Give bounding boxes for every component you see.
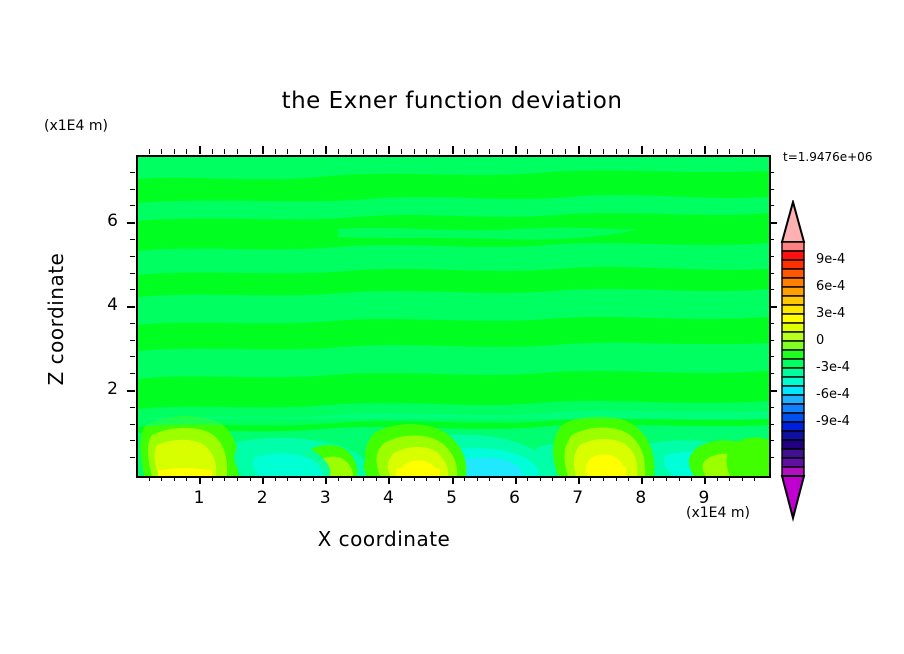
axis-tick: [351, 149, 352, 154]
axis-tick: [199, 476, 201, 484]
x-tick-label: 9: [689, 488, 719, 508]
axis-tick: [616, 149, 617, 154]
axis-tick: [376, 476, 377, 481]
axis-tick: [515, 146, 517, 154]
colorbar-band: [782, 323, 804, 332]
colorbar-band: [782, 467, 804, 476]
axis-tick: [130, 340, 135, 341]
colorbar-band: [782, 404, 804, 413]
colorbar-band: [782, 305, 804, 314]
axis-tick: [130, 239, 135, 240]
colorbar-band: [782, 368, 804, 377]
axis-tick: [130, 172, 135, 173]
axis-tick: [250, 476, 251, 481]
axis-tick: [527, 476, 528, 481]
x-tick-label: 1: [184, 488, 214, 508]
axis-tick: [237, 476, 238, 481]
axis-tick: [769, 440, 774, 441]
x-tick-label: 6: [500, 488, 530, 508]
axis-tick: [628, 476, 629, 481]
x-tick-label: 8: [626, 488, 656, 508]
axis-tick: [426, 476, 427, 481]
axis-tick: [489, 149, 490, 154]
colorbar-tick-label: 3e-4: [816, 306, 845, 321]
colorbar-band: [782, 278, 804, 287]
axis-tick: [477, 149, 478, 154]
axis-tick: [149, 476, 150, 481]
axis-tick: [742, 476, 743, 481]
axis-tick: [287, 149, 288, 154]
colorbar-band: [782, 260, 804, 269]
axis-tick: [250, 149, 251, 154]
axis-tick: [262, 146, 264, 154]
axis-tick: [590, 476, 591, 481]
axis-tick: [552, 476, 553, 481]
axis-tick: [679, 476, 680, 481]
colorbar-band: [782, 440, 804, 449]
axis-tick: [717, 149, 718, 154]
axis-tick: [489, 476, 490, 481]
axis-tick: [439, 149, 440, 154]
axis-tick: [262, 476, 264, 484]
axis-tick: [502, 476, 503, 481]
axis-tick: [351, 476, 352, 481]
colorbar-top-cap: [782, 202, 804, 242]
y-tick-label: 4: [88, 295, 118, 315]
axis-tick: [515, 476, 517, 484]
axis-tick: [769, 289, 774, 290]
axis-tick: [212, 476, 213, 481]
axis-tick: [704, 146, 706, 154]
axis-tick: [769, 273, 774, 274]
colorbar-band: [782, 431, 804, 440]
axis-tick: [603, 149, 604, 154]
axis-tick: [161, 476, 162, 481]
axis-tick: [653, 476, 654, 481]
axis-tick: [769, 373, 774, 374]
axis-tick: [540, 149, 541, 154]
axis-tick: [325, 146, 327, 154]
y-unit-label: (x1E4 m): [44, 118, 108, 134]
x-tick-label: 7: [563, 488, 593, 508]
axis-tick: [130, 457, 135, 458]
axis-tick: [130, 189, 135, 190]
colorbar-band: [782, 242, 804, 251]
axis-tick: [300, 476, 301, 481]
axis-tick: [414, 149, 415, 154]
axis-tick: [130, 289, 135, 290]
axis-tick: [127, 306, 135, 308]
axis-tick: [527, 149, 528, 154]
colorbar-band: [782, 458, 804, 467]
axis-tick: [666, 476, 667, 481]
colorbar-tick-label: -3e-4: [816, 360, 850, 375]
colorbar-band: [782, 287, 804, 296]
colorbar-band: [782, 386, 804, 395]
axis-tick: [742, 149, 743, 154]
axis-tick: [127, 390, 135, 392]
colorbar-bottom-cap: [782, 476, 804, 518]
axis-tick: [552, 149, 553, 154]
axis-tick: [224, 149, 225, 154]
axis-tick: [691, 149, 692, 154]
colorbar-band: [782, 422, 804, 431]
colorbar-tick-label: -6e-4: [816, 387, 850, 402]
axis-tick: [754, 149, 755, 154]
figure-canvas: the Exner function deviation (x1E4 m) (x…: [0, 0, 904, 654]
axis-tick: [130, 373, 135, 374]
axis-tick: [186, 149, 187, 154]
axis-tick: [237, 149, 238, 154]
axis-tick: [691, 476, 692, 481]
x-tick-label: 4: [373, 488, 403, 508]
axis-tick: [653, 149, 654, 154]
axis-tick: [186, 476, 187, 481]
colorbar-band: [782, 296, 804, 305]
colorbar-band: [782, 251, 804, 260]
axis-tick: [275, 476, 276, 481]
colorbar-band: [782, 359, 804, 368]
axis-tick: [174, 149, 175, 154]
axis-tick: [452, 146, 454, 154]
x-tick-label: 2: [247, 488, 277, 508]
chart-title: the Exner function deviation: [0, 88, 904, 114]
y-tick-label: 2: [88, 379, 118, 399]
axis-tick: [325, 476, 327, 484]
axis-tick: [769, 457, 774, 458]
contour-plot-area: [136, 155, 771, 478]
axis-tick: [287, 476, 288, 481]
axis-tick: [717, 476, 718, 481]
axis-tick: [641, 146, 643, 154]
colorbar-band: [782, 413, 804, 422]
x-tick-label: 3: [310, 488, 340, 508]
axis-tick: [439, 476, 440, 481]
axis-tick: [199, 146, 201, 154]
axis-tick: [401, 149, 402, 154]
axis-tick: [769, 407, 774, 408]
axis-tick: [679, 149, 680, 154]
colorbar-tick-label: 9e-4: [816, 252, 845, 267]
axis-tick: [578, 476, 580, 484]
axis-tick: [769, 323, 774, 324]
axis-tick: [401, 476, 402, 481]
axis-tick: [130, 440, 135, 441]
axis-tick: [275, 149, 276, 154]
axis-tick: [464, 149, 465, 154]
axis-tick: [769, 340, 774, 341]
colorbar-band: [782, 377, 804, 386]
axis-tick: [338, 476, 339, 481]
axis-tick: [754, 476, 755, 481]
axis-tick: [769, 424, 774, 425]
colorbar-band: [782, 341, 804, 350]
axis-tick: [578, 146, 580, 154]
axis-tick: [127, 222, 135, 224]
axis-tick: [376, 149, 377, 154]
axis-tick: [464, 476, 465, 481]
axis-tick: [130, 256, 135, 257]
axis-tick: [769, 356, 774, 357]
axis-tick: [224, 476, 225, 481]
axis-tick: [149, 149, 150, 154]
axis-tick: [769, 172, 774, 173]
axis-tick: [313, 476, 314, 481]
x-tick-label: 5: [437, 488, 467, 508]
axis-tick: [704, 476, 706, 484]
colorbar-band: [782, 350, 804, 359]
y-axis-label: Z coordinate: [44, 219, 68, 419]
axis-tick: [130, 273, 135, 274]
axis-tick: [130, 356, 135, 357]
axis-tick: [729, 149, 730, 154]
axis-tick: [769, 256, 774, 257]
axis-tick: [769, 205, 774, 206]
axis-tick: [363, 476, 364, 481]
colorbar-band: [782, 269, 804, 278]
axis-tick: [769, 239, 774, 240]
axis-tick: [338, 149, 339, 154]
axis-tick: [130, 424, 135, 425]
axis-tick: [363, 149, 364, 154]
colorbar-tick-label: 0: [816, 333, 824, 348]
axis-tick: [616, 476, 617, 481]
time-annotation: t=1.9476e+06: [783, 150, 872, 164]
colorbar-band: [782, 395, 804, 404]
axis-tick: [565, 476, 566, 481]
axis-tick: [313, 149, 314, 154]
colorbar-band: [782, 314, 804, 323]
axis-tick: [603, 476, 604, 481]
axis-tick: [212, 149, 213, 154]
axis-tick: [628, 149, 629, 154]
colorbar: 9e-46e-43e-40-3e-4-6e-4-9e-4: [776, 200, 904, 525]
colorbar-tick-label: 6e-4: [816, 279, 845, 294]
contour-field: [138, 157, 769, 476]
colorbar-band: [782, 449, 804, 458]
axis-tick: [666, 149, 667, 154]
axis-tick: [130, 323, 135, 324]
axis-tick: [426, 149, 427, 154]
axis-tick: [565, 149, 566, 154]
axis-tick: [477, 476, 478, 481]
axis-tick: [161, 149, 162, 154]
axis-tick: [130, 205, 135, 206]
axis-tick: [300, 149, 301, 154]
axis-tick: [769, 189, 774, 190]
colorbar-tick-label: -9e-4: [816, 414, 850, 429]
axis-tick: [540, 476, 541, 481]
axis-tick: [130, 407, 135, 408]
axis-tick: [388, 476, 390, 484]
axis-tick: [641, 476, 643, 484]
axis-tick: [414, 476, 415, 481]
axis-tick: [502, 149, 503, 154]
axis-tick: [388, 146, 390, 154]
axis-tick: [590, 149, 591, 154]
axis-tick: [174, 476, 175, 481]
x-axis-label: X coordinate: [0, 527, 768, 551]
y-tick-label: 6: [88, 211, 118, 231]
colorbar-band: [782, 332, 804, 341]
axis-tick: [729, 476, 730, 481]
axis-tick: [452, 476, 454, 484]
